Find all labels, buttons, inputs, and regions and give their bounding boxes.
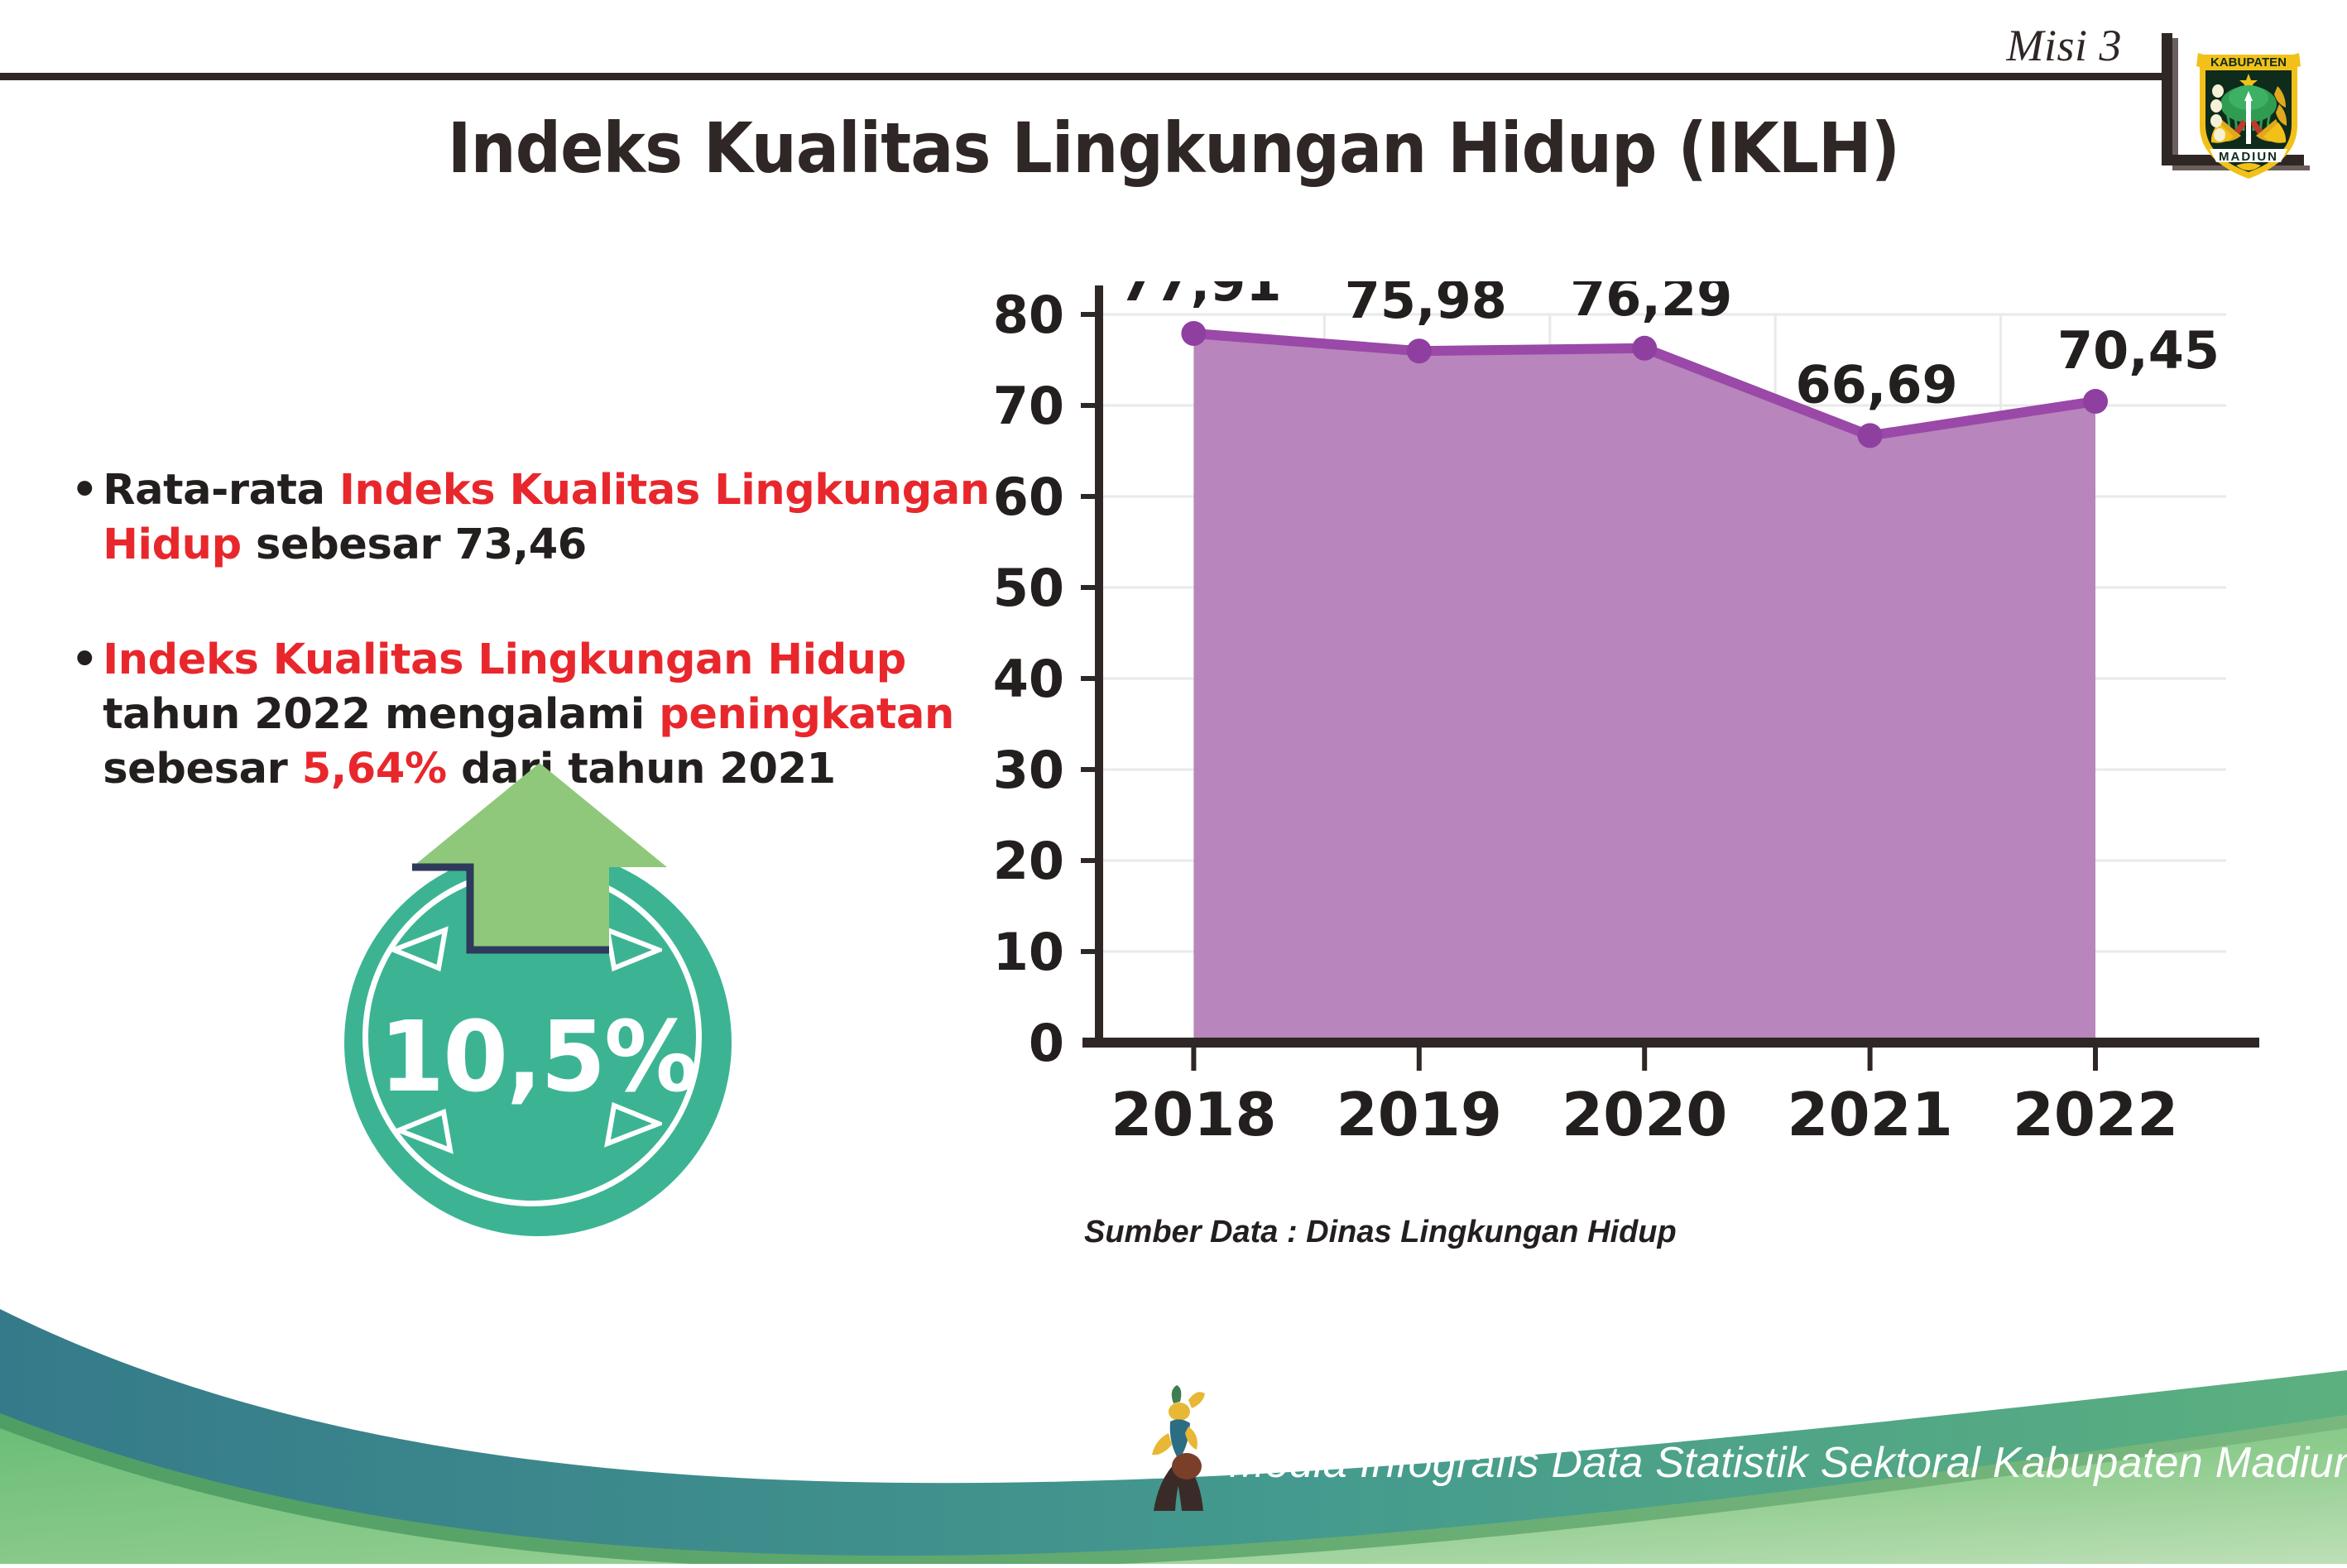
bullet-marker: • [71, 463, 98, 518]
y-axis-tick-label: 50 [993, 558, 1064, 618]
y-axis-tick-label: 40 [993, 649, 1064, 709]
footer-caption: Media Infografis Data Statistik Sektoral… [1229, 1438, 2347, 1488]
chart-data-label: 75,98 [1345, 281, 1507, 330]
y-axis-tick-label: 70 [993, 376, 1064, 436]
bullet-marker: • [71, 633, 98, 688]
y-axis-tick-label: 20 [993, 831, 1064, 891]
header-divider-rule [0, 73, 2165, 80]
list-item: • Rata-rata Indeks Kualitas Lingkungan H… [71, 463, 990, 573]
bullet-part: sebesar [103, 745, 302, 794]
x-axis-tick-label: 2018 [1111, 1080, 1276, 1149]
chart-source-note: Sumber Data : Dinas Lingkungan Hidup [1084, 1215, 1677, 1250]
iklh-area-chart: 77,9175,9876,2966,6970,45010203040506070… [977, 281, 2268, 1175]
y-axis-tick-label: 60 [993, 467, 1064, 527]
bullet-part: sebesar 73,46 [242, 520, 587, 569]
mission-label: Misi 3 [2006, 20, 2122, 71]
bullet-part-highlight: peningkatan [659, 690, 954, 739]
page-title: Indeks Kualitas Lingkungan Hidup (IKLH) [94, 108, 2253, 189]
bullet-part-highlight: Indeks Kualitas Lingkungan Hidup [103, 635, 906, 684]
chart-data-label: 76,29 [1570, 281, 1732, 328]
x-axis-tick-label: 2022 [2013, 1080, 2178, 1149]
bullet-part: Rata-rata [103, 466, 339, 515]
bullet-text-1: Rata-rata Indeks Kualitas Lingkungan Hid… [103, 463, 990, 573]
x-axis-tick-label: 2019 [1337, 1080, 1502, 1149]
y-axis-tick-label: 0 [1029, 1013, 1064, 1073]
chart-data-label: 66,69 [1796, 354, 1958, 415]
y-axis-tick-label: 30 [993, 740, 1064, 800]
chart-data-label: 77,91 [1119, 281, 1281, 313]
y-axis-tick-label: 80 [993, 285, 1064, 345]
chart-canvas: 77,9175,9876,2966,6970,45010203040506070… [977, 281, 2268, 1175]
x-axis-tick-label: 2021 [1787, 1080, 1952, 1149]
chart-data-label: 70,45 [2057, 320, 2220, 381]
badge-percentage-value: 10,5% [352, 1000, 723, 1114]
increase-badge: 10,5% [328, 760, 758, 1223]
media-infografis-figure-icon [1140, 1383, 1240, 1516]
footer-banner: Media Infografis Data Statistik Sektoral… [0, 1291, 2347, 1564]
x-axis-tick-label: 2020 [1562, 1080, 1727, 1149]
up-arrow-icon [401, 760, 682, 1033]
summary-bullet-list: • Rata-rata Indeks Kualitas Lingkungan H… [71, 463, 990, 797]
svg-text:KABUPATEN: KABUPATEN [2210, 55, 2287, 70]
bullet-part: tahun 2022 mengalami [103, 690, 659, 739]
y-axis-tick-label: 10 [993, 922, 1064, 982]
